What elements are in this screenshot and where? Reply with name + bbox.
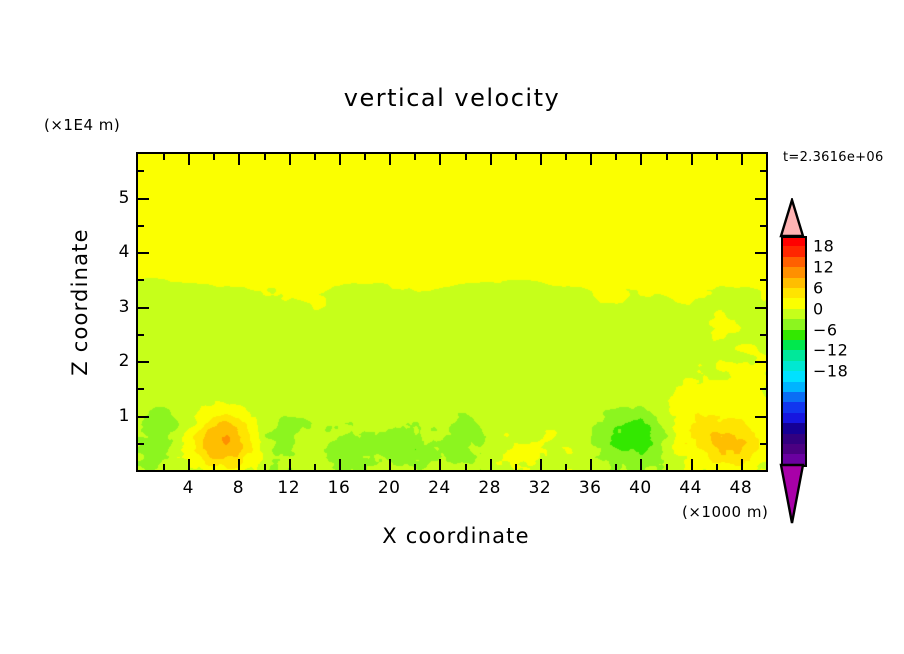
- y-tick-left: [138, 307, 149, 309]
- x-tick-top: [339, 154, 341, 165]
- x-tick-top: [716, 154, 718, 160]
- colorbar-under-arrow-icon: [774, 463, 810, 525]
- x-tick-top: [314, 154, 316, 160]
- colorbar-band: [781, 350, 807, 360]
- colorbar-tick-label: 0: [813, 299, 824, 318]
- colorbar-band: [781, 267, 807, 277]
- y-tick-right: [760, 388, 766, 390]
- x-tick-top: [540, 154, 542, 165]
- y-tick-right: [755, 361, 766, 363]
- x-tick-bottom: [540, 459, 542, 470]
- y-tick-label: 3: [100, 297, 130, 317]
- y-tick-left: [138, 198, 149, 200]
- x-tick-bottom: [666, 464, 668, 470]
- colorbar-band: [781, 371, 807, 381]
- x-tick-bottom: [640, 459, 642, 470]
- y-tick-left: [138, 443, 144, 445]
- x-tick-top: [389, 154, 391, 165]
- y-tick-right: [755, 307, 766, 309]
- colorbar: 181260−6−12−18: [770, 196, 830, 526]
- x-tick-bottom: [490, 459, 492, 470]
- x-tick-label: 24: [428, 478, 451, 498]
- x-tick-bottom: [188, 459, 190, 470]
- colorbar-band: [781, 361, 807, 371]
- x-tick-label: 28: [478, 478, 501, 498]
- y-tick-label: 1: [100, 406, 130, 426]
- x-tick-top: [414, 154, 416, 160]
- x-tick-bottom: [439, 459, 441, 470]
- y-tick-left: [138, 252, 149, 254]
- x-tick-bottom: [389, 459, 391, 470]
- time-annotation: t=2.3616e+06: [783, 150, 884, 165]
- x-tick-top: [465, 154, 467, 160]
- x-tick-bottom: [515, 464, 517, 470]
- y-axis-units-label: (×1E4 m): [44, 116, 120, 134]
- x-tick-bottom: [590, 459, 592, 470]
- x-tick-bottom: [264, 464, 266, 470]
- colorbar-band: [781, 340, 807, 350]
- y-tick-right: [760, 225, 766, 227]
- x-tick-top: [213, 154, 215, 160]
- x-tick-top: [565, 154, 567, 160]
- colorbar-tick-label: 6: [813, 279, 824, 298]
- colorbar-band: [781, 257, 807, 267]
- contour-field-canvas: [138, 154, 766, 470]
- x-tick-bottom: [339, 459, 341, 470]
- x-axis-title: X coordinate: [256, 524, 656, 548]
- y-tick-label: 2: [100, 351, 130, 371]
- x-tick-label: 8: [233, 478, 244, 498]
- colorbar-over-arrow-icon: [774, 198, 810, 238]
- x-tick-top: [691, 154, 693, 165]
- y-tick-right: [760, 279, 766, 281]
- x-tick-bottom: [289, 459, 291, 470]
- x-tick-label: 12: [277, 478, 300, 498]
- y-tick-right: [760, 170, 766, 172]
- x-tick-top: [364, 154, 366, 160]
- y-axis-title: Z coordinate: [68, 202, 92, 402]
- x-tick-top: [163, 154, 165, 160]
- x-tick-label: 20: [378, 478, 401, 498]
- colorbar-band: [781, 382, 807, 392]
- x-tick-bottom: [414, 464, 416, 470]
- x-tick-top: [289, 154, 291, 165]
- x-tick-bottom: [314, 464, 316, 470]
- x-tick-top: [439, 154, 441, 165]
- colorbar-tick-label: −6: [813, 320, 838, 339]
- x-tick-bottom: [716, 464, 718, 470]
- colorbar-tick-label: 12: [813, 258, 834, 277]
- x-tick-label: 44: [679, 478, 702, 498]
- colorbar-band: [781, 434, 807, 444]
- colorbar-tick-label: −12: [813, 341, 848, 360]
- y-tick-right: [760, 443, 766, 445]
- x-tick-label: 32: [529, 478, 552, 498]
- colorbar-band: [781, 309, 807, 319]
- x-tick-bottom: [565, 464, 567, 470]
- x-tick-bottom: [213, 464, 215, 470]
- y-tick-right: [760, 334, 766, 336]
- x-tick-label: 48: [730, 478, 753, 498]
- y-tick-left: [138, 334, 144, 336]
- colorbar-band: [781, 278, 807, 288]
- x-tick-bottom: [364, 464, 366, 470]
- y-tick-left: [138, 170, 144, 172]
- colorbar-band: [781, 423, 807, 433]
- x-tick-top: [590, 154, 592, 165]
- y-tick-left: [138, 416, 149, 418]
- x-tick-bottom: [238, 459, 240, 470]
- colorbar-band: [781, 330, 807, 340]
- colorbar-band: [781, 246, 807, 256]
- y-tick-right: [755, 252, 766, 254]
- colorbar-band: [781, 444, 807, 454]
- colorbar-band: [781, 413, 807, 423]
- colorbar-band: [781, 319, 807, 329]
- x-tick-top: [741, 154, 743, 165]
- x-axis-units-label: (×1000 m): [682, 503, 768, 521]
- colorbar-band: [781, 298, 807, 308]
- y-tick-right: [755, 416, 766, 418]
- x-tick-bottom: [741, 459, 743, 470]
- colorbar-band: [781, 392, 807, 402]
- y-tick-label: 5: [100, 188, 130, 208]
- x-tick-top: [490, 154, 492, 165]
- y-tick-left: [138, 279, 144, 281]
- x-tick-top: [188, 154, 190, 165]
- x-tick-bottom: [691, 459, 693, 470]
- y-tick-label: 4: [100, 242, 130, 262]
- x-tick-top: [666, 154, 668, 160]
- colorbar-band: [781, 402, 807, 412]
- contour-plot-area: [136, 152, 768, 472]
- chart-title: vertical velocity: [0, 84, 904, 112]
- x-tick-label: 4: [183, 478, 194, 498]
- x-tick-label: 36: [579, 478, 602, 498]
- y-tick-right: [755, 198, 766, 200]
- x-tick-top: [615, 154, 617, 160]
- x-tick-top: [238, 154, 240, 165]
- y-tick-left: [138, 225, 144, 227]
- y-tick-left: [138, 388, 144, 390]
- x-tick-label: 40: [629, 478, 652, 498]
- colorbar-band: [781, 288, 807, 298]
- x-tick-top: [264, 154, 266, 160]
- x-tick-bottom: [163, 464, 165, 470]
- x-tick-bottom: [615, 464, 617, 470]
- x-tick-top: [640, 154, 642, 165]
- x-tick-top: [515, 154, 517, 160]
- x-tick-label: 16: [328, 478, 351, 498]
- colorbar-tick-label: −18: [813, 362, 848, 381]
- x-tick-bottom: [465, 464, 467, 470]
- colorbar-tick-label: 18: [813, 237, 834, 256]
- y-tick-left: [138, 361, 149, 363]
